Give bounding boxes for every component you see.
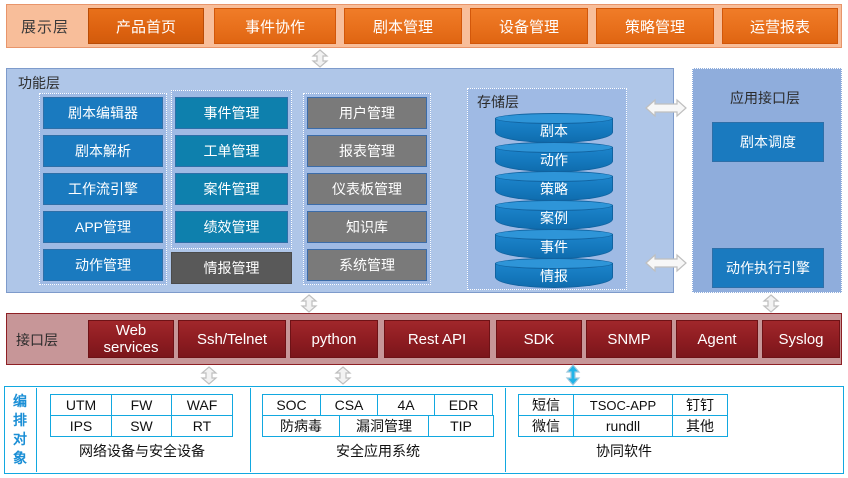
presentation-button-incident-collaboration[interactable]: 事件协作 (214, 8, 336, 44)
storage-cylinder-case[interactable]: 案例 (495, 200, 613, 230)
presentation-button-playbook-management[interactable]: 剧本管理 (344, 8, 462, 44)
orch-cell-rundll[interactable]: rundll (573, 415, 673, 437)
arrow-functional-to-interface-icon (296, 294, 322, 313)
orchestration-row: 短信 TSOC-APP 钉钉 (518, 394, 730, 415)
func-button-label: 情报管理 (204, 258, 260, 278)
orchestration-group-caption: 安全应用系统 (262, 441, 494, 461)
func-button-report-management[interactable]: 报表管理 (307, 135, 427, 167)
presentation-button-label: 策略管理 (625, 16, 685, 37)
func-button-label: 工作流引擎 (68, 179, 138, 199)
interface-button-python[interactable]: python (290, 320, 378, 358)
orchestration-group-caption: 协同软件 (518, 441, 730, 461)
orch-cell-dingtalk[interactable]: 钉钉 (672, 394, 728, 416)
orch-cell-4a[interactable]: 4A (377, 394, 435, 416)
application-interface-layer-title: 应用接口层 (730, 88, 800, 108)
orch-cell-edr[interactable]: EDR (434, 394, 493, 416)
interface-button-web-services[interactable]: Webservices (88, 320, 174, 358)
interface-button-label: Rest API (408, 331, 466, 348)
arrow-interface-to-security-apps-icon (330, 366, 356, 385)
orchestration-objects-title: 编排对象 (10, 392, 30, 468)
presentation-button-device-management[interactable]: 设备管理 (470, 8, 588, 44)
presentation-button-policy-management[interactable]: 策略管理 (596, 8, 714, 44)
orch-cell-waf[interactable]: WAF (171, 394, 233, 416)
orch-cell-tip[interactable]: TIP (428, 415, 494, 437)
presentation-button-label: 运营报表 (750, 16, 810, 37)
presentation-layer-title: 展示层 (14, 14, 76, 38)
api-button-action-execution-engine[interactable]: 动作执行引擎 (712, 248, 824, 288)
orch-cell-fw[interactable]: FW (111, 394, 172, 416)
func-button-label: 案件管理 (204, 179, 260, 199)
api-button-label: 剧本调度 (740, 132, 796, 152)
func-button-playbook-editor[interactable]: 剧本编辑器 (43, 97, 163, 129)
presentation-button-label: 剧本管理 (373, 16, 433, 37)
presentation-button-label: 产品首页 (116, 16, 176, 37)
func-button-label: 仪表板管理 (332, 179, 402, 199)
func-button-label: 知识库 (346, 217, 388, 237)
storage-cylinder-label: 动作 (495, 149, 613, 171)
presentation-button-label: 设备管理 (499, 16, 559, 37)
storage-cylinder-label: 情报 (495, 265, 613, 287)
orchestration-divider-3 (505, 388, 506, 472)
orch-cell-sw[interactable]: SW (111, 415, 172, 437)
func-button-label: 报表管理 (339, 141, 395, 161)
interface-button-label: SNMP (607, 331, 650, 348)
func-button-ticket-management[interactable]: 工单管理 (175, 135, 288, 167)
func-button-knowledge-base[interactable]: 知识库 (307, 211, 427, 243)
orch-cell-rt[interactable]: RT (171, 415, 233, 437)
storage-cylinder-intelligence[interactable]: 情报 (495, 258, 613, 288)
interface-button-label: Syslog (778, 331, 823, 348)
interface-button-rest-api[interactable]: Rest API (384, 320, 490, 358)
func-button-label: 系统管理 (339, 255, 395, 275)
arrow-interface-to-collaboration-icon (562, 364, 584, 386)
orchestration-divider-1 (36, 388, 37, 472)
orch-cell-wechat[interactable]: 微信 (518, 415, 574, 437)
interface-button-snmp[interactable]: SNMP (586, 320, 672, 358)
interface-button-ssh-telnet[interactable]: Ssh/Telnet (178, 320, 286, 358)
func-button-label: APP管理 (75, 217, 131, 237)
storage-cylinder-playbook[interactable]: 剧本 (495, 113, 613, 143)
func-button-label: 事件管理 (204, 103, 260, 123)
orchestration-row: 微信 rundll 其他 (518, 415, 730, 436)
func-button-playbook-parsing[interactable]: 剧本解析 (43, 135, 163, 167)
interface-button-label: Ssh/Telnet (197, 331, 267, 348)
storage-cylinder-action[interactable]: 动作 (495, 142, 613, 172)
orch-cell-vulnerability-management[interactable]: 漏洞管理 (339, 415, 429, 437)
orch-cell-sms[interactable]: 短信 (518, 394, 574, 416)
orch-cell-other[interactable]: 其他 (672, 415, 728, 437)
func-button-event-management[interactable]: 事件管理 (175, 97, 288, 129)
interface-layer-title: 接口层 (16, 330, 58, 350)
orchestration-row: IPS SW RT (50, 415, 234, 436)
func-button-system-management[interactable]: 系统管理 (307, 249, 427, 281)
orchestration-group-security-apps: SOC CSA 4A EDR 防病毒 漏洞管理 TIP 安全应用系统 (262, 394, 494, 461)
interface-button-label: Agent (697, 331, 736, 348)
func-button-app-management[interactable]: APP管理 (43, 211, 163, 243)
interface-button-agent[interactable]: Agent (676, 320, 758, 358)
orchestration-group-collaboration-software: 短信 TSOC-APP 钉钉 微信 rundll 其他 协同软件 (518, 394, 730, 461)
storage-layer-title: 存储层 (477, 92, 519, 112)
arrow-presentation-to-functional-icon (307, 49, 333, 68)
func-button-action-management[interactable]: 动作管理 (43, 249, 163, 281)
func-button-label: 剧本编辑器 (68, 103, 138, 123)
storage-cylinder-label: 事件 (495, 236, 613, 258)
orch-cell-csa[interactable]: CSA (320, 394, 378, 416)
storage-cylinder-policy[interactable]: 策略 (495, 171, 613, 201)
interface-button-syslog[interactable]: Syslog (762, 320, 840, 358)
orchestration-divider-2 (250, 388, 251, 472)
api-button-playbook-scheduling[interactable]: 剧本调度 (712, 122, 824, 162)
presentation-button-label: 事件协作 (245, 16, 305, 37)
orch-cell-ips[interactable]: IPS (50, 415, 112, 437)
orch-cell-tsoc-app[interactable]: TSOC-APP (573, 394, 673, 416)
orchestration-row: 防病毒 漏洞管理 TIP (262, 415, 494, 436)
functional-layer-title: 功能层 (18, 73, 60, 93)
orchestration-row: UTM FW WAF (50, 394, 234, 415)
func-button-performance-management[interactable]: 绩效管理 (175, 211, 288, 243)
interface-button-label: Webservices (103, 322, 158, 356)
func-button-workflow-engine[interactable]: 工作流引擎 (43, 173, 163, 205)
storage-cylinder-event[interactable]: 事件 (495, 229, 613, 259)
interface-button-sdk[interactable]: SDK (496, 320, 582, 358)
presentation-button-operations-report[interactable]: 运营报表 (722, 8, 838, 44)
func-button-case-management[interactable]: 案件管理 (175, 173, 288, 205)
func-button-intelligence-management[interactable]: 情报管理 (171, 252, 292, 284)
storage-cylinder-label: 案例 (495, 207, 613, 229)
func-button-label: 工单管理 (204, 141, 260, 161)
func-button-dashboard-management[interactable]: 仪表板管理 (307, 173, 427, 205)
storage-cylinder-label: 策略 (495, 178, 613, 200)
arrow-api-to-interface-icon (758, 294, 784, 313)
presentation-button-product-home[interactable]: 产品首页 (88, 8, 204, 44)
orchestration-group-network-devices: UTM FW WAF IPS SW RT 网络设备与安全设备 (50, 394, 234, 461)
api-button-label: 动作执行引擎 (726, 258, 810, 278)
orch-cell-soc[interactable]: SOC (262, 394, 321, 416)
arrow-interface-to-network-devices-icon (196, 366, 222, 385)
orchestration-group-caption: 网络设备与安全设备 (50, 441, 234, 461)
func-button-label: 动作管理 (75, 255, 131, 275)
interface-button-label: python (311, 331, 356, 348)
orch-cell-utm[interactable]: UTM (50, 394, 112, 416)
orch-cell-antivirus[interactable]: 防病毒 (262, 415, 340, 437)
arrow-functional-to-api-top-icon (645, 95, 687, 121)
func-button-label: 剧本解析 (75, 141, 131, 161)
arrow-functional-to-api-bottom-icon (645, 250, 687, 276)
orchestration-row: SOC CSA 4A EDR (262, 394, 494, 415)
func-button-user-management[interactable]: 用户管理 (307, 97, 427, 129)
func-button-label: 用户管理 (339, 103, 395, 123)
interface-button-label: SDK (524, 331, 555, 348)
architecture-diagram: 展示层 产品首页 事件协作 剧本管理 设备管理 策略管理 运营报表 功能层 剧本… (0, 0, 848, 478)
func-button-label: 绩效管理 (204, 217, 260, 237)
storage-cylinder-label: 剧本 (495, 120, 613, 142)
